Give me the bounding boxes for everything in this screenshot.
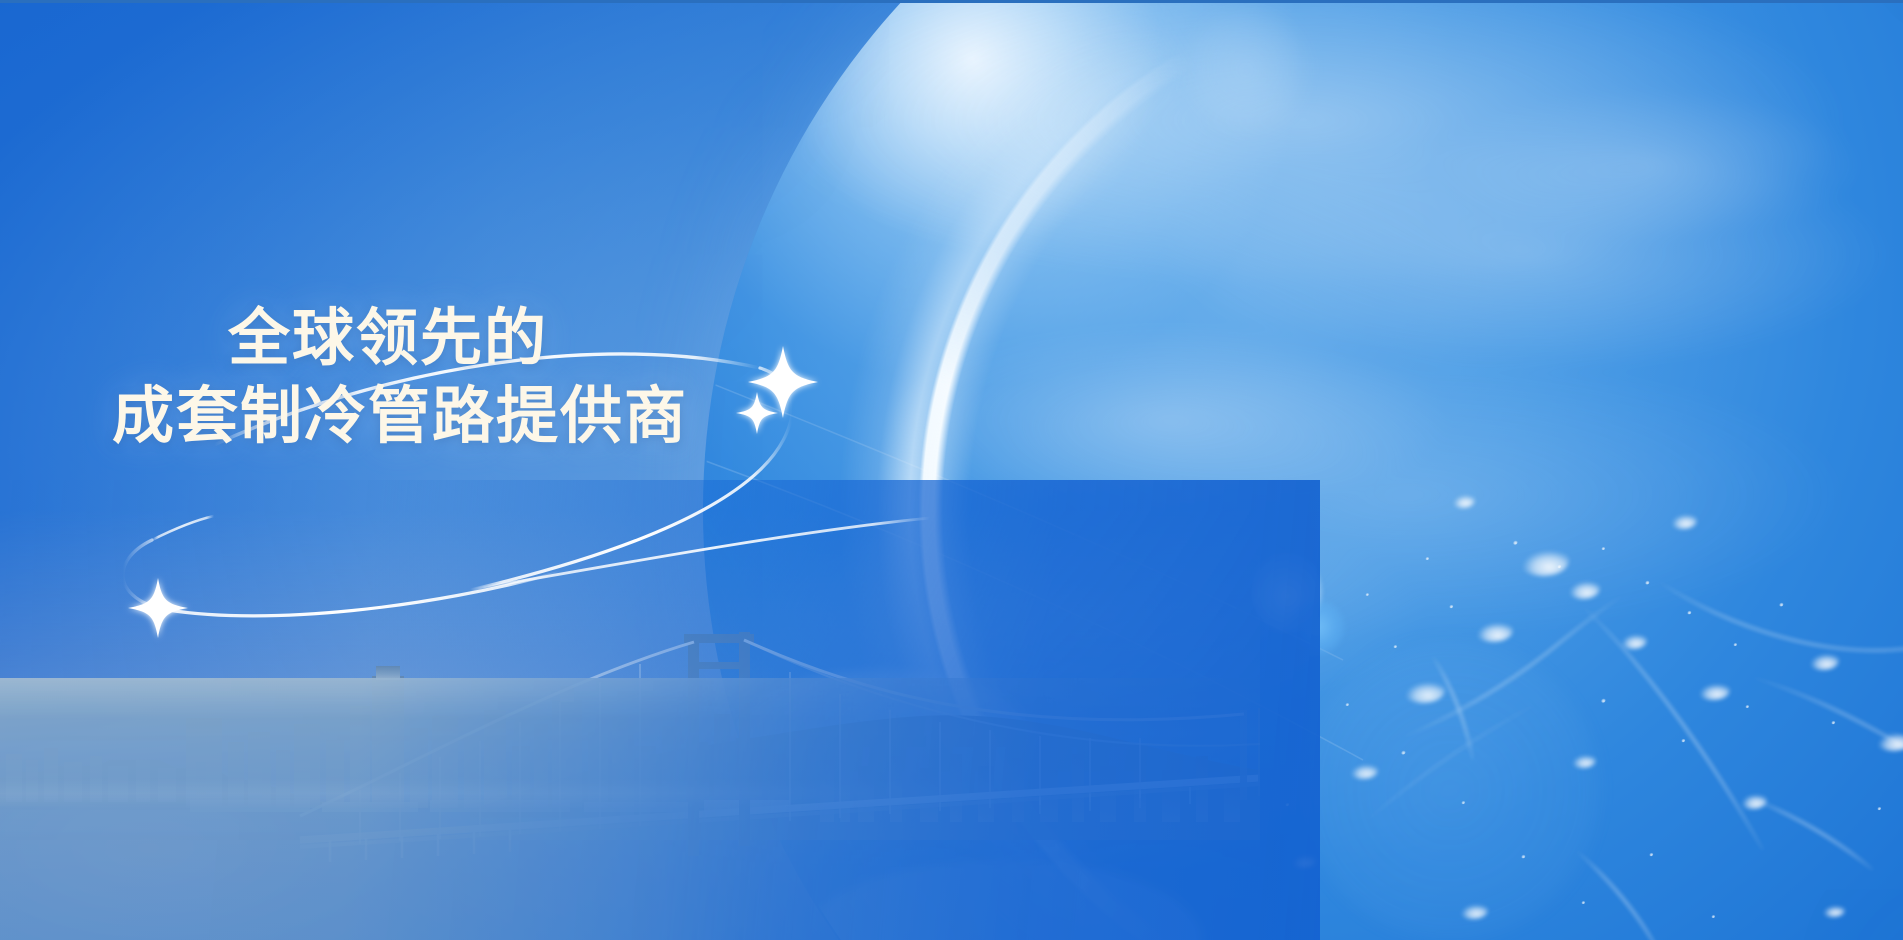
hero-headline: 全球领先的 成套制冷管路提供商 xyxy=(112,300,872,456)
top-edge-strip xyxy=(0,0,1903,3)
scene-blue-overlay xyxy=(0,480,1320,940)
lens-flare-large-disc xyxy=(1300,640,1600,940)
hero-banner: 全球领先的 成套制冷管路提供商 xyxy=(0,0,1903,940)
headline-line-1: 全球领先的 xyxy=(228,300,872,378)
headline-line-2: 成套制冷管路提供商 xyxy=(112,378,872,456)
lens-flare-top xyxy=(1186,10,1306,130)
